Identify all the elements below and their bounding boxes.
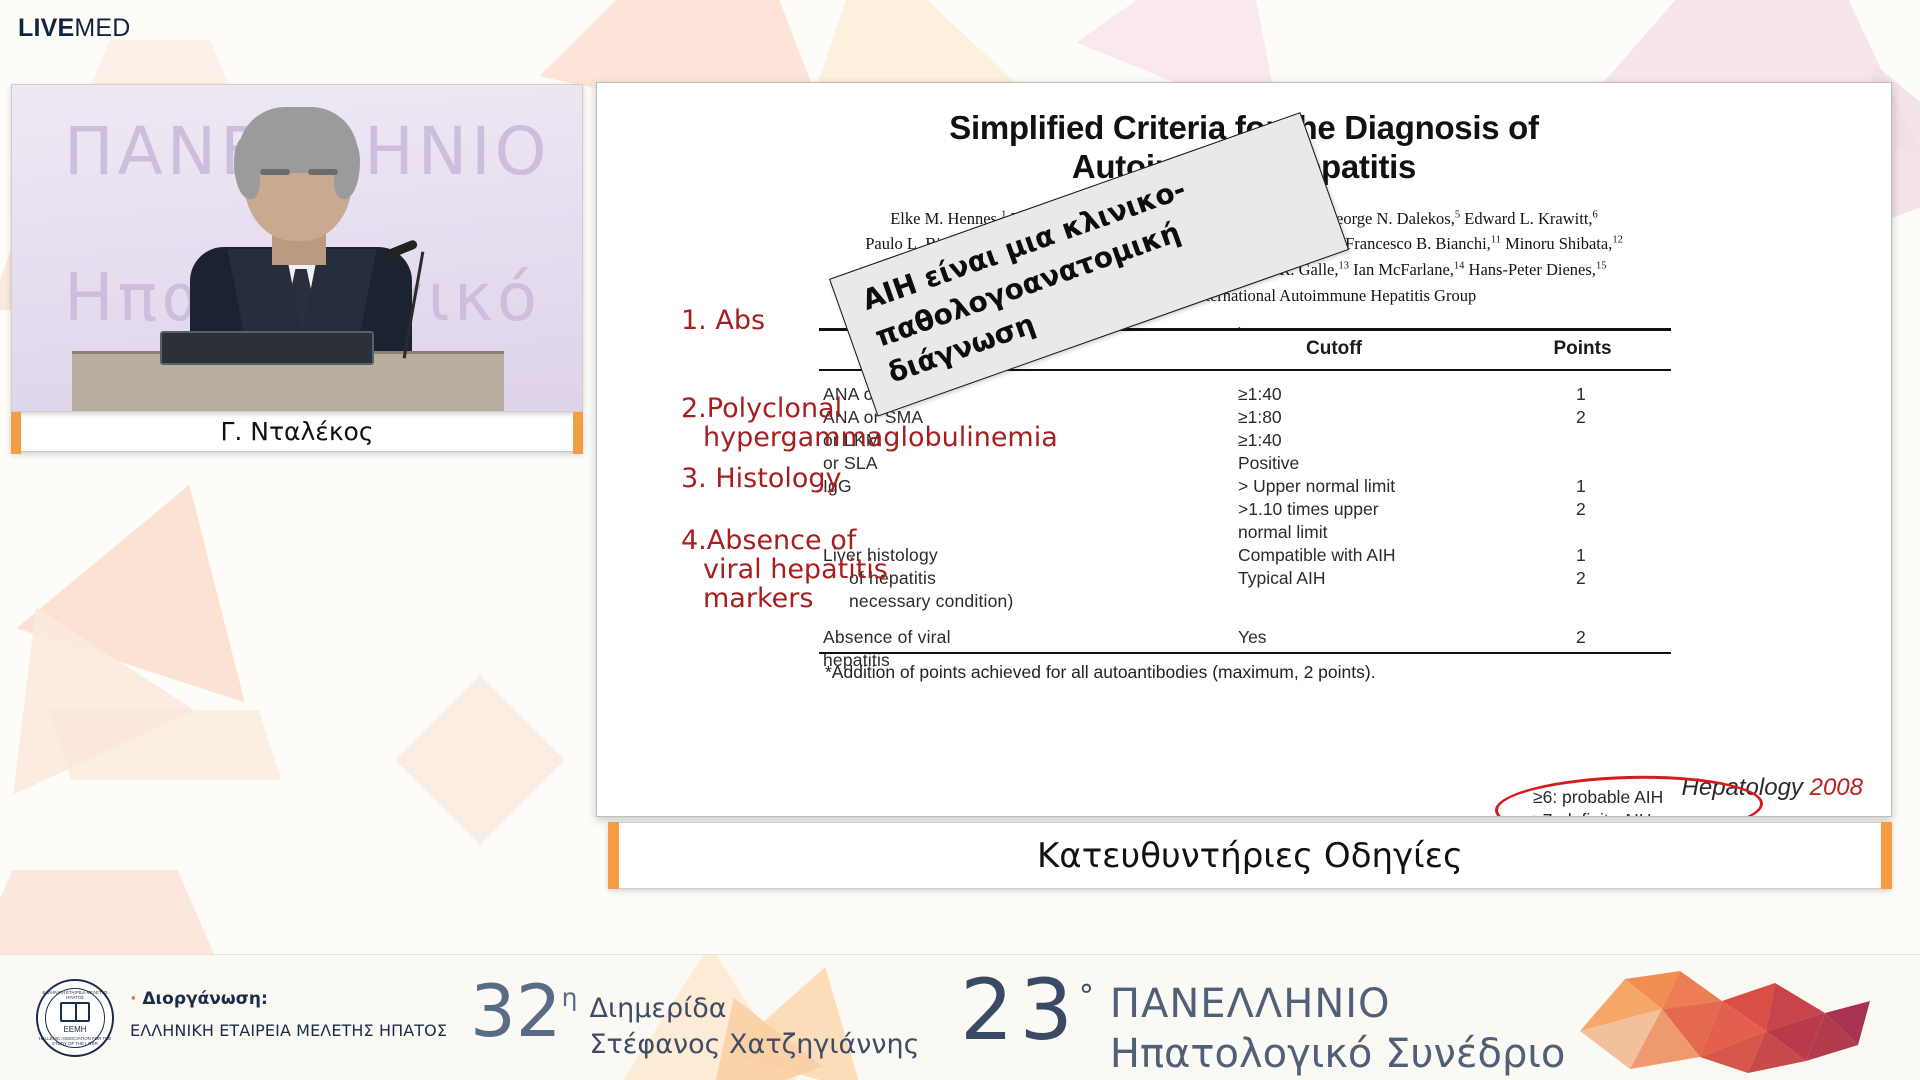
cell-points [1494,452,1671,475]
conf32-ordinal: η [562,983,578,1012]
annotation-2-line1: Polyclonal [707,393,842,424]
bullet-icon: · [130,989,136,1009]
header-points: Points [1494,330,1671,371]
bg-bar-2 [49,710,282,780]
cell-cutoff: > Upper normal limit [1174,475,1494,498]
table-footnote: *Addition of points achieved for all aut… [825,662,1685,683]
speaker-hair-left [234,137,260,199]
speaker-video-panel[interactable]: ΠΑΝΕΛΛΗΝΙΟ Ηπατολογικό Γ. Νταλέκος [11,84,583,452]
liver-illustration [1570,961,1890,1079]
conf32-number: 32 [470,977,562,1045]
bg-diamond [395,675,565,845]
speaker-hair-right [334,137,360,199]
table-row: normal limit [819,521,1671,544]
cell-variable [819,498,1174,521]
video-frame[interactable]: ΠΑΝΕΛΛΗΝΙΟ Ηπατολογικό [11,84,583,412]
cell-points: 2 [1494,567,1671,590]
logo-live-text: LIVE [18,14,74,42]
conf23-text: ΠΑΝΕΛΛΗΝΙΟ Ηπατολογικό Συνέδριο [1110,981,1565,1077]
annotation-4-line1: Absence of [707,525,856,556]
cell-cutoff: Typical AIH [1174,567,1494,590]
cell-cutoff: Compatible with AIH [1174,544,1494,567]
conference-32-block: 32 η Διημερίδα Στέφανος Χατζηγιάννης [470,977,919,1063]
organizer-name: ΕΛΛΗΝΙΚΗ ΕΤΑΙΡΕΙΑ ΜΕΛΕΤΗΣ ΗΠΑΤΟΣ [130,1021,447,1040]
annotation-1-text: Abs [715,305,765,336]
annotation-4-line2: viral hepatitis [681,556,921,585]
laptop [160,331,374,365]
cell-cutoff: ≥1:40 [1174,429,1494,452]
title-bar-accent-left [608,822,619,889]
annotation-4-number: 4. [681,525,707,556]
speaker-bar-accent-right [573,412,583,454]
presentation-slide[interactable]: Simplified Criteria for the Diagnosis of… [596,82,1892,817]
annotation-3: 3. Histology [681,465,841,494]
annotation-4-line3: markers [681,585,921,614]
cell-points [1494,429,1671,452]
table-row: Liver histology Compatible with AIH 1 [819,544,1671,567]
cell-cutoff [1174,590,1494,613]
conf23-line1: ΠΑΝΕΛΛΗΝΙΟ [1110,981,1565,1027]
table-spacer [819,613,1671,626]
organizer-label-text: Διοργάνωση: [142,989,267,1009]
slide-section-title-bar: Κατευθυντήριες Οδηγίες [608,822,1892,889]
conf23-line2: Ηπατολογικό Συνέδριο [1110,1031,1565,1077]
cell-points: 1 [1494,475,1671,498]
cell-points [1494,521,1671,544]
cell-points: 1 [1494,544,1671,567]
conference-23-block: 23 ° ΠΑΝΕΛΛΗΝΙΟ Ηπατολογικό Συνέδριο [960,971,1565,1077]
speaker-brow-left [260,169,290,175]
conf32-line2: Στέφανος Χατζηγιάννης [589,1027,919,1063]
cell-points: 2 [1494,406,1671,429]
table-row: IgG > Upper normal limit 1 [819,475,1671,498]
conference-footer: ΕΛΛΗΝΙΚΗ ΕΤΑΙΡΕΙΑ ΜΕΛΕΤΗΣ ΗΠΑΤΟΣ ΕΕΜΗ HE… [0,954,1920,1080]
livemed-logo: LIVEMED [18,16,131,41]
eemh-badge: ΕΛΛΗΝΙΚΗ ΕΤΑΙΡΕΙΑ ΜΕΛΕΤΗΣ ΗΠΑΤΟΣ ΕΕΜΗ HE… [36,979,114,1057]
organizer-block: · Διοργάνωση: ΕΛΛΗΝΙΚΗ ΕΤΑΙΡΕΙΑ ΜΕΛΕΤΗΣ … [130,989,447,1040]
speaker-brow-right [308,169,338,175]
speaker-name: Γ. Νταλέκος [220,417,373,446]
cell-cutoff: Positive [1174,452,1494,475]
eemh-badge-bottom-text: HELLENIC ASSOCIATION FOR THE STUDY OF TH… [38,1036,112,1046]
conf32-text: Διημερίδα Στέφανος Χατζηγιάννης [589,991,919,1063]
annotation-3-number: 3. [681,463,707,494]
conf23-number: 23 [960,971,1079,1051]
table-row: >1.10 times upper 2 [819,498,1671,521]
organizer-label: · Διοργάνωση: [130,989,447,1009]
annotation-4: 4.Absence of viral hepatitis markers [681,527,921,614]
annotation-2-number: 2. [681,393,707,424]
logo-med-text: MED [74,14,130,42]
cell-cutoff: ≥1:80 [1174,406,1494,429]
annotation-1-number: 1. [681,305,707,336]
conf23-ordinal: ° [1079,979,1094,1014]
annotation-2-line2: hypergammaglobulinemia [681,424,1011,453]
table-row: Absence of viral Yes 2 [819,626,1671,649]
cell-variable: IgG [819,475,1174,498]
title-bar-accent-right [1881,822,1892,889]
annotation-1: 1. Abs [681,307,765,336]
cell-points: 2 [1494,626,1671,649]
cell-cutoff: ≥1:40 [1174,383,1494,406]
table-row: or SLA Positive [819,452,1671,475]
cell-points [1494,590,1671,613]
cell-variable: or SLA [819,452,1174,475]
cell-cutoff: Yes [1174,626,1494,649]
cell-variable: Absence of viral [819,626,1174,649]
journal-year: 2008 [1810,774,1863,801]
title-bar-text: Κατευθυντήριες Οδηγίες [1037,836,1463,876]
annotation-3-text: Histology [715,463,841,494]
speaker-name-bar: Γ. Νταλέκος [11,412,583,452]
cell-points: 1 [1494,383,1671,406]
speaker-bar-accent-left [11,412,21,454]
table-row: necessary condition) [819,590,1671,613]
annotation-2: 2.Polyclonal hypergammaglobulinemia [681,395,1011,453]
cell-cutoff: normal limit [1174,521,1494,544]
table-bottom-rule [819,652,1671,654]
table-row: of hepatitis Typical AIH 2 [819,567,1671,590]
eemh-badge-text: ΕΕΜΗ [63,1025,86,1034]
cell-points: 2 [1494,498,1671,521]
conf32-line1: Διημερίδα [589,991,919,1027]
title-bar-body: Κατευθυντήριες Οδηγίες [619,822,1881,889]
header-cutoff: Cutoff [1174,330,1494,371]
eemh-logo: ΕΛΛΗΝΙΚΗ ΕΤΑΙΡΕΙΑ ΜΕΛΕΤΗΣ ΗΠΑΤΟΣ ΕΕΜΗ HE… [36,979,114,1057]
book-icon [60,1002,90,1022]
cell-cutoff: >1.10 times upper [1174,498,1494,521]
